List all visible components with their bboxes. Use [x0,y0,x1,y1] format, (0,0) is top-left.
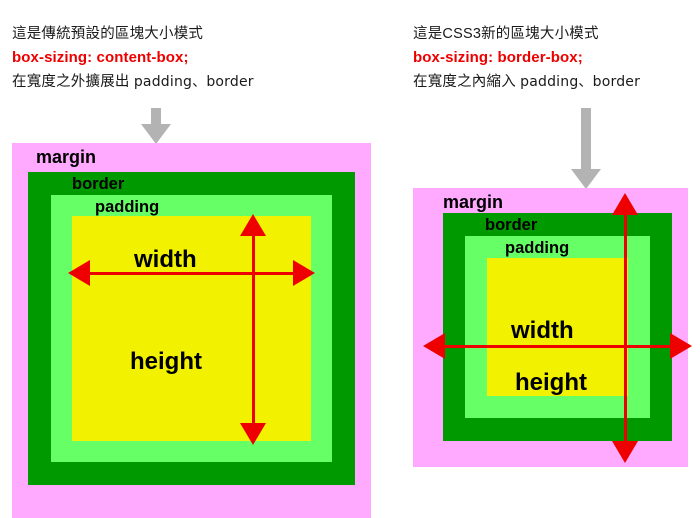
left-caption-line-3-b: padding、border [134,74,254,90]
arrow-shaft [624,206,627,450]
left-caption-line-3: 在寬度之外擴展出 padding、border [12,70,254,94]
right-height-arrow [612,193,638,463]
arrow-head-bottom [612,441,638,463]
arrow-head-bottom [240,423,266,445]
arrow-head-left [68,260,90,286]
down-arrow-icon-right [571,108,601,189]
left-height-arrow [240,214,266,445]
left-caption-block: 這是傳統預設的區塊大小模式 box-sizing: content-box; 在… [12,22,254,94]
left-caption-code: box-sizing: content-box; [12,46,254,70]
right-border-label: border [485,216,537,235]
right-caption-code: box-sizing: border-box; [413,46,640,70]
arrow-head-top [612,193,638,215]
left-margin-area: margin border padding width heig [12,143,371,518]
left-padding-area: padding width height [51,195,332,462]
arrow-head-right [670,333,692,359]
arrow-shaft [252,227,255,432]
arrow-head [141,124,171,144]
arrow-head-top [240,214,266,236]
right-margin-area: margin border padding width height [413,188,688,467]
right-caption-line-3: 在寬度之內縮入 padding、border [413,70,640,94]
right-caption-block: 這是CSS3新的區塊大小模式 box-sizing: border-box; 在… [413,22,640,94]
left-border-label: border [72,175,124,194]
right-caption-line-3-b: padding、border [520,74,640,90]
down-arrow-icon-left [141,108,171,144]
left-height-label: height [130,348,202,376]
right-caption-line-3-a: 在寬度之內縮入 [413,74,516,90]
left-content-area: width height [72,216,311,441]
arrow-head-right [293,260,315,286]
arrow-shaft [581,108,591,171]
right-padding-label: padding [505,239,569,258]
left-caption-line-1: 這是傳統預設的區塊大小模式 [12,22,254,46]
left-caption-line-3-a: 在寬度之外擴展出 [12,74,130,90]
left-border-area: border padding width height [28,172,355,485]
right-border-area: border padding width height [443,213,672,441]
arrow-head-left [423,333,445,359]
left-margin-label: margin [36,147,96,168]
right-height-label: height [515,369,587,397]
box-sizing-diagram-page: { "page": { "title": "CSS box-sizing com… [0,0,700,514]
arrow-head [571,169,601,189]
right-width-label: width [511,317,574,345]
right-caption-line-1: 這是CSS3新的區塊大小模式 [413,22,640,46]
left-padding-label: padding [95,198,159,217]
right-margin-label: margin [443,192,503,213]
left-width-label: width [134,246,197,274]
